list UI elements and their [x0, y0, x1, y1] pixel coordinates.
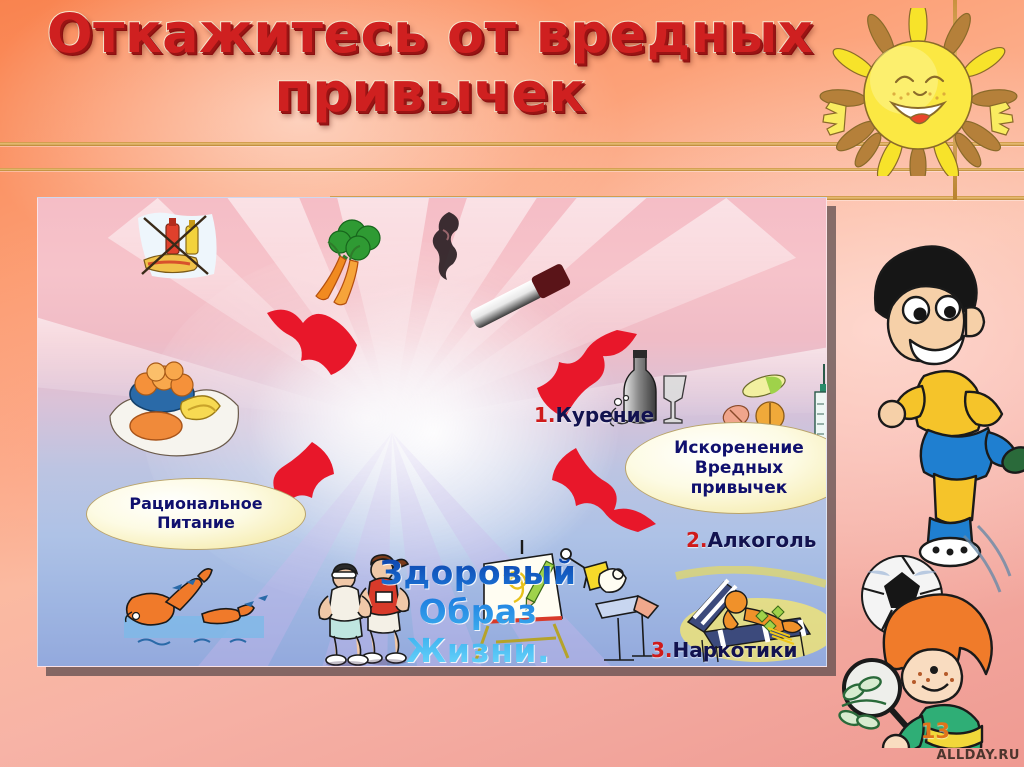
callout-eradicate-line3: привычек: [691, 478, 788, 498]
junk-food-crossed-out-art: [130, 210, 222, 288]
callout-rational-nutrition[interactable]: Рациональное Питание: [86, 478, 306, 550]
habit-label-alcohol: 2.Алкоголь: [686, 528, 816, 552]
habit-number-3: 3.: [651, 638, 673, 662]
callout-eradicate-line1: Искоренение: [674, 438, 804, 458]
runners-art: [308, 548, 438, 666]
callout-rational-nutrition-line2: Питание: [157, 513, 235, 532]
slide-title-line2: привычек: [0, 65, 860, 120]
page-number: 13: [921, 719, 950, 743]
cigarette-art: [462, 256, 582, 338]
habit-text-drugs: Наркотики: [673, 638, 798, 662]
kids-characters-art: [838, 236, 1024, 748]
callout-eradicate-line2: Вредных: [695, 458, 783, 478]
smiling-sun-icon: [818, 8, 1018, 176]
slide-title: Откажитесь от вредных привычек: [0, 6, 860, 120]
habit-text-smoking: Курение: [556, 403, 655, 427]
habit-label-drugs: 3.Наркотики: [651, 638, 798, 662]
slide-title-line1: Откажитесь от вредных: [0, 6, 860, 61]
watermark: ALLDAY.RU: [936, 748, 1020, 763]
habit-number-2: 2.: [686, 528, 708, 552]
habit-number-1: 1.: [534, 403, 556, 427]
habit-text-alcohol: Алкоголь: [708, 528, 817, 552]
swimmer-art: [98, 568, 288, 654]
callout-rational-nutrition-line1: Рациональное: [129, 494, 262, 513]
slide-canvas: Откажитесь от вредных привычек: [0, 0, 1024, 767]
vegetables-art: [300, 212, 386, 308]
arrow-nutrition-to-centre: [263, 303, 373, 385]
habit-label-smoking: 1.Курение: [534, 403, 654, 427]
easel-and-desk-art: [466, 538, 666, 667]
fruit-bowl-art: [104, 358, 244, 468]
picture-card: Здоровый Образ Жизни. Рациональное Питан…: [37, 197, 827, 667]
